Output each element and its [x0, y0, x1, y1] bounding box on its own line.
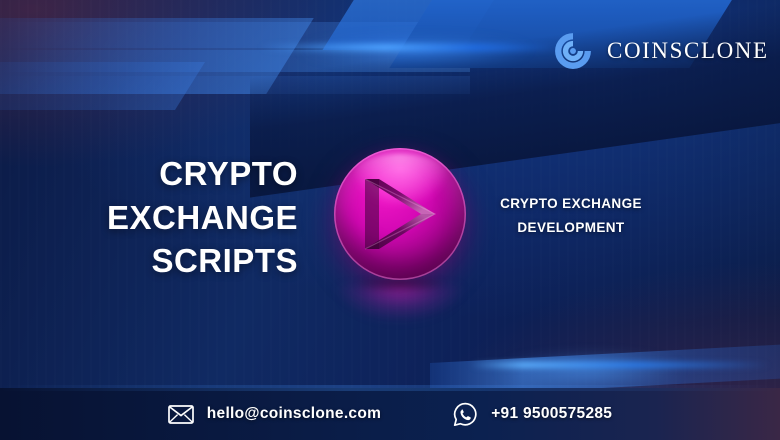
- headline-line-1: CRYPTO: [40, 152, 298, 196]
- background-top-glow: [250, 30, 580, 70]
- background-parallelogram-1: [0, 18, 314, 94]
- background-light-band-1: [0, 22, 470, 48]
- contact-phone[interactable]: +91 9500575285: [453, 402, 612, 427]
- coin-graphic: [334, 148, 466, 280]
- page-title: CRYPTO EXCHANGE SCRIPTS: [40, 152, 298, 283]
- brand-name: COINSCLONE: [607, 38, 769, 64]
- subtitle-line-2: DEVELOPMENT: [478, 216, 664, 240]
- coin-rim: [334, 148, 466, 280]
- contact-email[interactable]: hello@coinsclone.com: [168, 405, 381, 424]
- whatsapp-icon: [453, 402, 478, 427]
- headline-line-2: EXCHANGE: [40, 196, 298, 240]
- headline-line-3: SCRIPTS: [40, 239, 298, 283]
- contact-bar: hello@coinsclone.com +91 9500575285: [0, 388, 780, 440]
- background-lower-glow: [460, 348, 720, 392]
- email-address: hello@coinsclone.com: [207, 405, 381, 423]
- subtitle-line-1: CRYPTO EXCHANGE: [478, 192, 664, 216]
- background-top-light-streak: [260, 44, 560, 51]
- background-light-band-2: [0, 50, 470, 72]
- coinsclone-spiral-icon: [552, 30, 594, 72]
- envelope-icon: [168, 405, 194, 424]
- promo-banner: COINSCLONE CRYPTO EXCHANGE SCRIPTS: [0, 0, 780, 440]
- subtitle: CRYPTO EXCHANGE DEVELOPMENT: [478, 192, 664, 239]
- phone-number: +91 9500575285: [491, 405, 612, 423]
- background-wedge-secondary: [323, 0, 538, 50]
- background-light-band-3: [0, 76, 470, 94]
- brand-logo[interactable]: COINSCLONE: [552, 30, 769, 72]
- background-parallelogram-2: [0, 62, 205, 110]
- background-lower-light-streak: [470, 362, 770, 368]
